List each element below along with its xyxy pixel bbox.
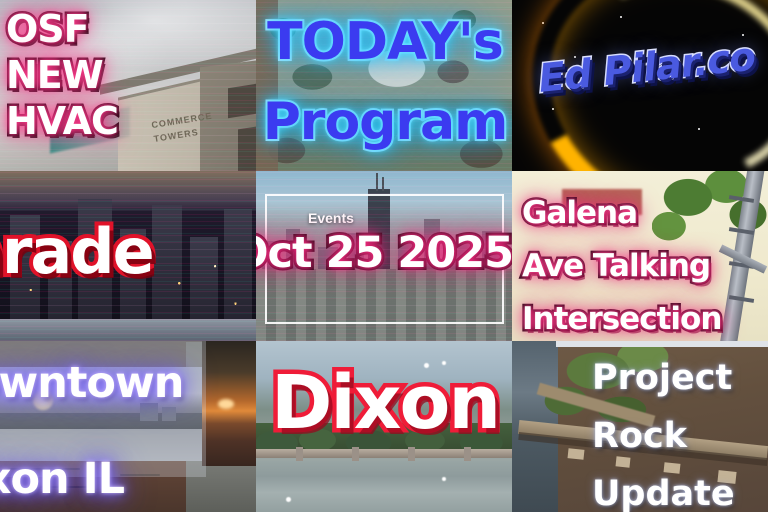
- thumbnail-dixon[interactable]: Dixon: [256, 341, 512, 512]
- thumbnail-galena-ave-talking-intersection[interactable]: GalenaAve TalkingIntersection: [512, 171, 768, 341]
- thumbnail-downtown-dixon-il[interactable]: owntownixon IL: [0, 341, 256, 512]
- title-line-1: Galena: [522, 187, 768, 240]
- dixon-title: Dixon: [256, 365, 512, 441]
- window: [238, 127, 256, 171]
- thumbnail-ed-pilar-com[interactable]: Ed Pilar.co: [512, 0, 768, 171]
- title-line-3: Update: [592, 465, 768, 512]
- bridge-deck: [256, 449, 512, 458]
- parade-title: arade: [0, 219, 256, 285]
- title-line-2: Program: [256, 82, 512, 162]
- title-line-2: Rock: [592, 407, 768, 465]
- title-line-1: TODAY's: [267, 12, 503, 72]
- title-line-3: HVAC: [6, 99, 118, 143]
- project-rock-update-title: ProjectRockUpdate: [592, 349, 768, 512]
- title-line-2: NEW: [6, 53, 103, 97]
- sparkle: [286, 497, 291, 502]
- thumbnail-parade[interactable]: arade: [0, 171, 256, 341]
- downtown-dixon-title: owntownixon IL: [0, 341, 256, 512]
- thumbnail-events-oct-25-2025[interactable]: Events Oct 25 2025: [256, 171, 512, 341]
- events-label: Events: [308, 210, 354, 226]
- river-water: [256, 461, 512, 512]
- todays-program-title: TODAY'sProgram: [256, 2, 512, 162]
- thumbnail-todays-program[interactable]: TODAY'sProgram: [256, 0, 512, 171]
- title-line-2: Ave Talking: [522, 240, 768, 293]
- roadway: [0, 319, 256, 341]
- sparkle: [442, 477, 446, 481]
- tower-antenna: [376, 173, 378, 191]
- title-line-1: owntown: [0, 341, 256, 431]
- tower-antenna: [382, 177, 384, 191]
- thumbnail-project-rock-update[interactable]: ProjectRockUpdate: [512, 341, 768, 512]
- title-line-3: Intersection: [522, 293, 768, 341]
- top-edge-strip: [556, 341, 768, 347]
- osf-hvac-title: OSFNEWHVAC: [6, 6, 156, 144]
- event-date-title: Oct 25 2025: [256, 229, 512, 277]
- thumbnail-osf-new-hvac[interactable]: COMMERCE TOWERS OSFNEWHVAC: [0, 0, 256, 171]
- thumbnail-grid: COMMERCE TOWERS OSFNEWHVAC TODAY'sProgra…: [0, 0, 768, 512]
- galena-title: GalenaAve TalkingIntersection: [522, 187, 768, 341]
- dam-block: [568, 448, 585, 460]
- title-line-1: Project: [592, 349, 768, 407]
- title-line-1: OSF: [6, 7, 89, 51]
- title-line-2: ixon IL: [0, 431, 256, 512]
